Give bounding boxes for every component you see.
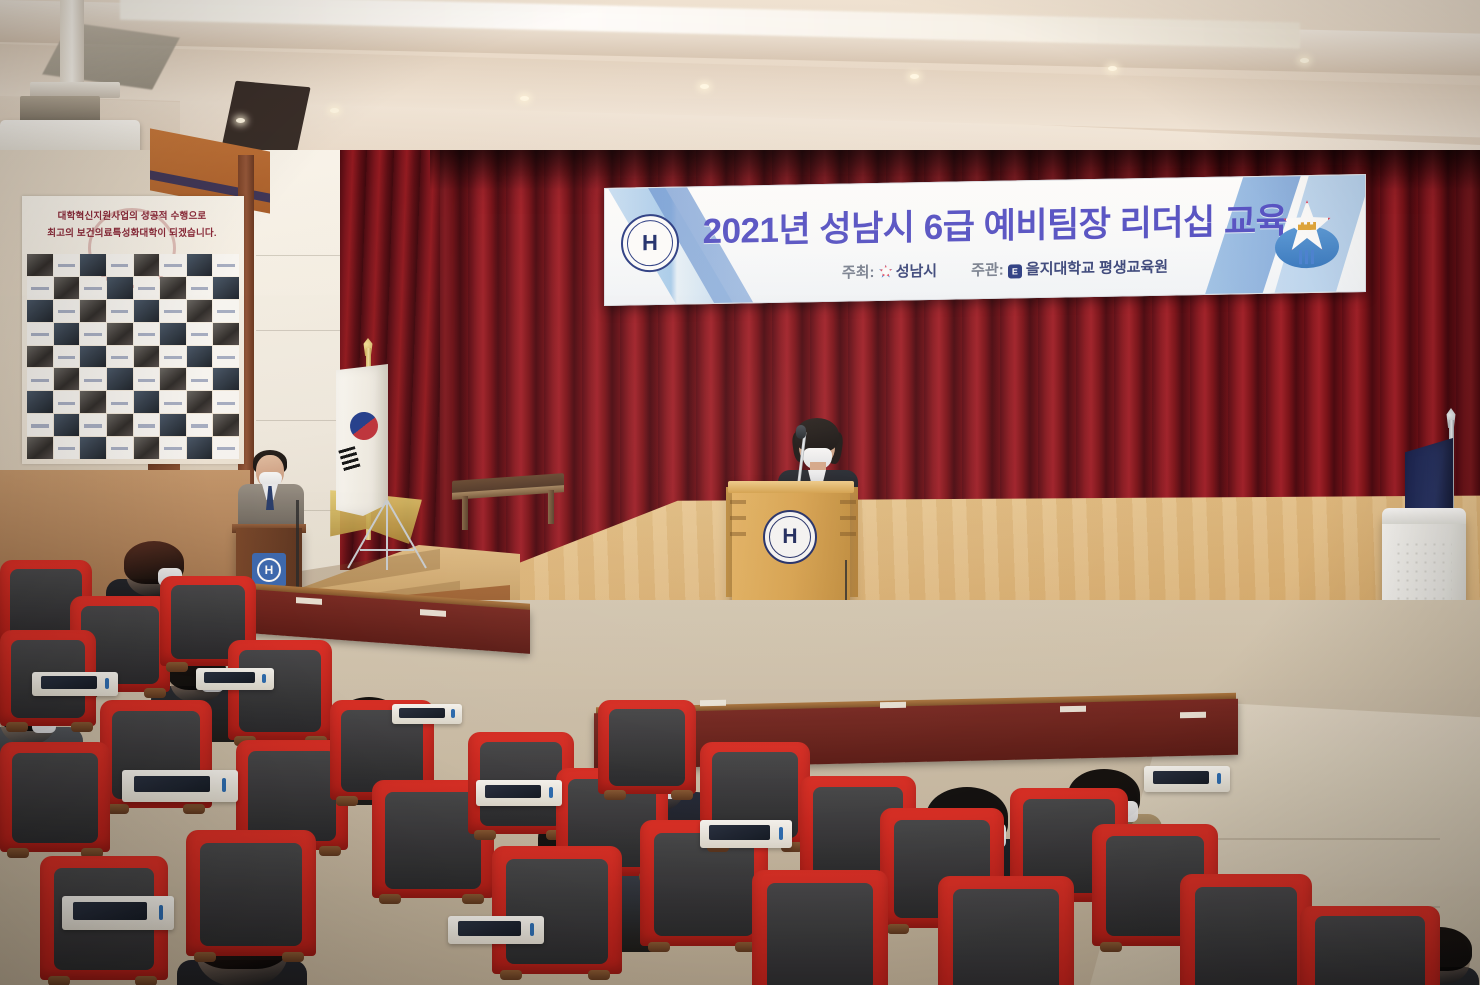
poster-label-tile xyxy=(54,391,80,413)
poster-label-tile xyxy=(80,277,106,299)
poster-photo-tile xyxy=(213,323,239,345)
poster-photo-tile xyxy=(160,277,186,299)
poster-photo-tile xyxy=(134,437,160,459)
poster-label-tile xyxy=(213,346,239,368)
bench-leg xyxy=(548,490,554,524)
podium-slot xyxy=(730,532,746,536)
wall-poster: 대학혁신지원사업의 성공적 수행으로 최고의 보건의료특성화대학이 되겠습니다. xyxy=(22,196,244,464)
seat-armrest xyxy=(887,924,909,934)
poster-label-tile xyxy=(160,346,186,368)
poster-photo-tile xyxy=(187,300,213,322)
auditorium-seat[interactable] xyxy=(186,830,316,956)
auditorium-seat[interactable] xyxy=(598,700,696,794)
seat-armrest xyxy=(500,970,522,980)
pen-icon xyxy=(159,905,163,920)
auditorium-seat[interactable] xyxy=(1180,874,1312,985)
poster-photo-tile xyxy=(107,414,133,436)
workbook-on-desk[interactable] xyxy=(476,780,562,806)
poster-photo-tile xyxy=(107,368,133,390)
banner-title: 2021년 성남시 6급 예비팀장 리더십 교육 xyxy=(695,190,1295,255)
poster-label-tile xyxy=(160,391,186,413)
poster-label-tile xyxy=(187,277,213,299)
speaker-cabinet-top xyxy=(1382,508,1466,524)
seat-armrest xyxy=(282,952,304,962)
workbook-on-desk[interactable] xyxy=(392,704,462,724)
seat-panel xyxy=(767,883,873,985)
host-label: 주최: xyxy=(842,264,875,282)
event-banner: H 2021년 성남시 6급 예비팀장 리더십 교육 주최: 성남시 주관: E… xyxy=(604,174,1366,306)
podium-slot xyxy=(840,500,856,504)
seongnam-city-logo-icon xyxy=(879,264,893,278)
poster-photo-tile xyxy=(160,323,186,345)
seat-armrest xyxy=(474,830,496,840)
workbook-on-desk[interactable] xyxy=(32,672,118,696)
desk-paper xyxy=(1180,712,1206,718)
poster-photo-tile xyxy=(54,368,80,390)
poster-label-tile xyxy=(213,254,239,276)
desk-paper xyxy=(880,702,906,708)
notebook-icon xyxy=(485,785,542,799)
banner-host-group: 주최: 성남시 xyxy=(842,259,937,282)
poster-photo-tile xyxy=(187,346,213,368)
poster-label-tile xyxy=(54,300,80,322)
poster-label-tile xyxy=(27,414,53,436)
poster-photo-tile xyxy=(54,323,80,345)
notebook-icon xyxy=(709,825,770,840)
podium-slot xyxy=(730,500,746,504)
seat-panel xyxy=(609,709,685,786)
host-name: 성남시 xyxy=(896,262,937,280)
projector-pole xyxy=(60,0,84,86)
organizer-label: 주관: xyxy=(971,261,1004,279)
seat-panel xyxy=(385,792,480,889)
poster-photo-tile xyxy=(107,323,133,345)
poster-photo-tile xyxy=(27,437,53,459)
microphone-icon xyxy=(796,425,806,439)
seat-panel xyxy=(1315,916,1424,985)
poster-line-2-highlight: 최고의 보건의료특성화대학이 되겠습니다. xyxy=(47,228,216,239)
bench-leg xyxy=(462,496,468,530)
pen-icon xyxy=(1217,773,1221,784)
poster-photo-tile xyxy=(134,391,160,413)
poster-photo-tile xyxy=(187,437,213,459)
poster-photo-tile xyxy=(80,346,106,368)
poster-label-tile xyxy=(107,346,133,368)
poster-label-tile xyxy=(54,254,80,276)
poster-label-tile xyxy=(134,368,160,390)
ceiling-downlight xyxy=(330,108,339,113)
auditorium-seat[interactable] xyxy=(0,742,110,852)
ceiling-downlight xyxy=(1108,66,1117,71)
seat-armrest xyxy=(194,952,216,962)
poster-photo-tile xyxy=(107,277,133,299)
poster-label-tile xyxy=(107,300,133,322)
seongnam-flower-emblem-icon xyxy=(1271,195,1343,272)
poster-label-tile xyxy=(160,254,186,276)
podium-top xyxy=(728,481,854,493)
emblem-legs xyxy=(1299,250,1315,264)
poster-photo-tile xyxy=(27,300,53,322)
poster-label-tile xyxy=(80,368,106,390)
desk-paper xyxy=(700,700,726,706)
poster-label-tile xyxy=(160,437,186,459)
poster-photo-tile xyxy=(27,391,53,413)
notebook-icon xyxy=(73,902,147,920)
workbook-on-desk[interactable] xyxy=(448,916,544,944)
auditorium-photo: 대학혁신지원사업의 성공적 수행으로 최고의 보건의료특성화대학이 되겠습니다.… xyxy=(0,0,1480,985)
podium-slot xyxy=(840,516,856,520)
poster-line-1-highlight: 대학혁신지원사업의 성공적 수행으로 xyxy=(58,211,207,222)
seat-panel xyxy=(1195,887,1298,985)
poster-label-tile xyxy=(27,323,53,345)
auditorium-seat[interactable] xyxy=(1300,906,1440,985)
trigram-marks xyxy=(338,446,360,472)
seat-armrest xyxy=(183,804,205,814)
auditorium-seat[interactable] xyxy=(228,640,332,740)
poster-photo-tile xyxy=(160,414,186,436)
flag-tripod-stand xyxy=(340,500,434,572)
poster-photo-tile xyxy=(134,300,160,322)
pen-icon xyxy=(451,709,455,718)
poster-label-tile xyxy=(187,414,213,436)
workbook-on-desk[interactable] xyxy=(62,896,174,930)
poster-photo-tile xyxy=(213,414,239,436)
notebook-icon xyxy=(41,676,98,688)
notebook-icon xyxy=(134,776,211,793)
auditorium-seat[interactable] xyxy=(938,876,1074,985)
podium-emblem-letter: H xyxy=(782,525,797,549)
poster-photo-tile xyxy=(80,437,106,459)
ceiling-downlight xyxy=(520,96,529,101)
seat-armrest xyxy=(48,976,70,985)
poster-photo-tile xyxy=(80,391,106,413)
pen-icon xyxy=(222,778,226,792)
banner-organizer-group: 주관: E을지대학교 평생교육원 xyxy=(971,255,1168,280)
notebook-icon xyxy=(204,672,255,683)
pen-icon xyxy=(105,678,109,689)
poster-label-tile xyxy=(187,368,213,390)
eulji-mark-icon: E xyxy=(1008,264,1022,278)
seat-panel xyxy=(12,753,98,843)
poster-label-tile xyxy=(80,323,106,345)
seat-armrest xyxy=(107,804,129,814)
pen-icon xyxy=(549,787,553,798)
side-podium-plate-letter: H xyxy=(257,558,281,582)
podium-slot xyxy=(840,532,856,536)
notebook-icon xyxy=(399,708,445,718)
poster-label-tile xyxy=(134,323,160,345)
poster-label-tile xyxy=(27,277,53,299)
poster-label-tile xyxy=(107,254,133,276)
poster-photo-tile xyxy=(160,368,186,390)
seat-armrest xyxy=(604,790,626,800)
seat-panel xyxy=(953,889,1059,985)
poster-label-tile xyxy=(107,391,133,413)
poster-label-tile xyxy=(27,368,53,390)
pen-icon xyxy=(779,827,783,839)
seat-panel xyxy=(248,751,335,841)
poster-photo-tile xyxy=(187,254,213,276)
poster-label-tile xyxy=(107,437,133,459)
poster-photo-tile xyxy=(80,254,106,276)
poster-label-tile xyxy=(213,300,239,322)
seat-armrest xyxy=(1100,942,1122,952)
poster-photo-tile xyxy=(80,300,106,322)
seat-armrest xyxy=(135,976,157,985)
poster-label-tile xyxy=(54,346,80,368)
poster-photo-tile xyxy=(27,346,53,368)
ceiling-downlight xyxy=(1300,58,1309,63)
seat-panel xyxy=(506,859,607,964)
poster-text: 대학혁신지원사업의 성공적 수행으로 최고의 보건의료특성화대학이 되겠습니다. xyxy=(32,208,232,242)
podium-slot xyxy=(730,516,746,520)
pen-icon xyxy=(262,674,266,684)
seat-armrest xyxy=(588,970,610,980)
podium-emblem-icon: H xyxy=(763,510,817,564)
seat-panel xyxy=(200,843,301,946)
taegeuk-symbol xyxy=(346,408,381,443)
seat-armrest xyxy=(379,894,401,904)
seat-armrest xyxy=(166,662,188,672)
seat-armrest xyxy=(648,942,670,952)
poster-label-tile xyxy=(80,414,106,436)
ceiling-downlight xyxy=(700,84,709,89)
auditorium-seat[interactable] xyxy=(492,846,622,974)
seat-armrest xyxy=(336,796,358,806)
poster-label-tile xyxy=(134,414,160,436)
poster-photo-tile xyxy=(213,277,239,299)
poster-photo-tile xyxy=(27,254,53,276)
workbook-on-desk[interactable] xyxy=(196,668,274,690)
poster-photo-tile xyxy=(54,277,80,299)
seat-panel xyxy=(654,833,754,936)
poster-label-tile xyxy=(134,277,160,299)
desk-paper xyxy=(1060,706,1086,712)
poster-photo-tile xyxy=(54,414,80,436)
poster-photo-tile xyxy=(213,368,239,390)
notebook-icon xyxy=(458,921,521,936)
notebook-icon xyxy=(1153,771,1210,785)
seat-armrest xyxy=(462,894,484,904)
korean-national-flag-icon xyxy=(336,364,388,516)
seal-monogram: H xyxy=(642,232,658,254)
seat-armrest xyxy=(319,846,341,856)
ceiling-downlight xyxy=(236,118,245,123)
workbook-on-desk[interactable] xyxy=(122,770,238,802)
poster-label-tile xyxy=(160,300,186,322)
seat-armrest xyxy=(71,722,93,732)
poster-label-tile xyxy=(213,391,239,413)
poster-photo-grid xyxy=(27,254,239,459)
seat-panel xyxy=(239,650,320,732)
workbook-on-desk[interactable] xyxy=(1144,766,1230,792)
organizer-name: 을지대학교 평생교육원 xyxy=(1026,258,1168,278)
ceiling-downlight xyxy=(910,74,919,79)
seat-armrest xyxy=(6,722,28,732)
poster-label-tile xyxy=(187,323,213,345)
pen-icon xyxy=(530,923,534,935)
workbook-on-desk[interactable] xyxy=(700,820,792,848)
poster-photo-tile xyxy=(134,346,160,368)
seat-armrest xyxy=(671,790,693,800)
side-podium-plate-icon: H xyxy=(252,553,286,587)
poster-label-tile xyxy=(54,437,80,459)
auditorium-seat[interactable] xyxy=(752,870,888,985)
poster-label-tile xyxy=(213,437,239,459)
seat-armrest xyxy=(7,848,29,858)
poster-photo-tile xyxy=(187,391,213,413)
poster-photo-tile xyxy=(134,254,160,276)
seat-armrest xyxy=(144,688,166,698)
